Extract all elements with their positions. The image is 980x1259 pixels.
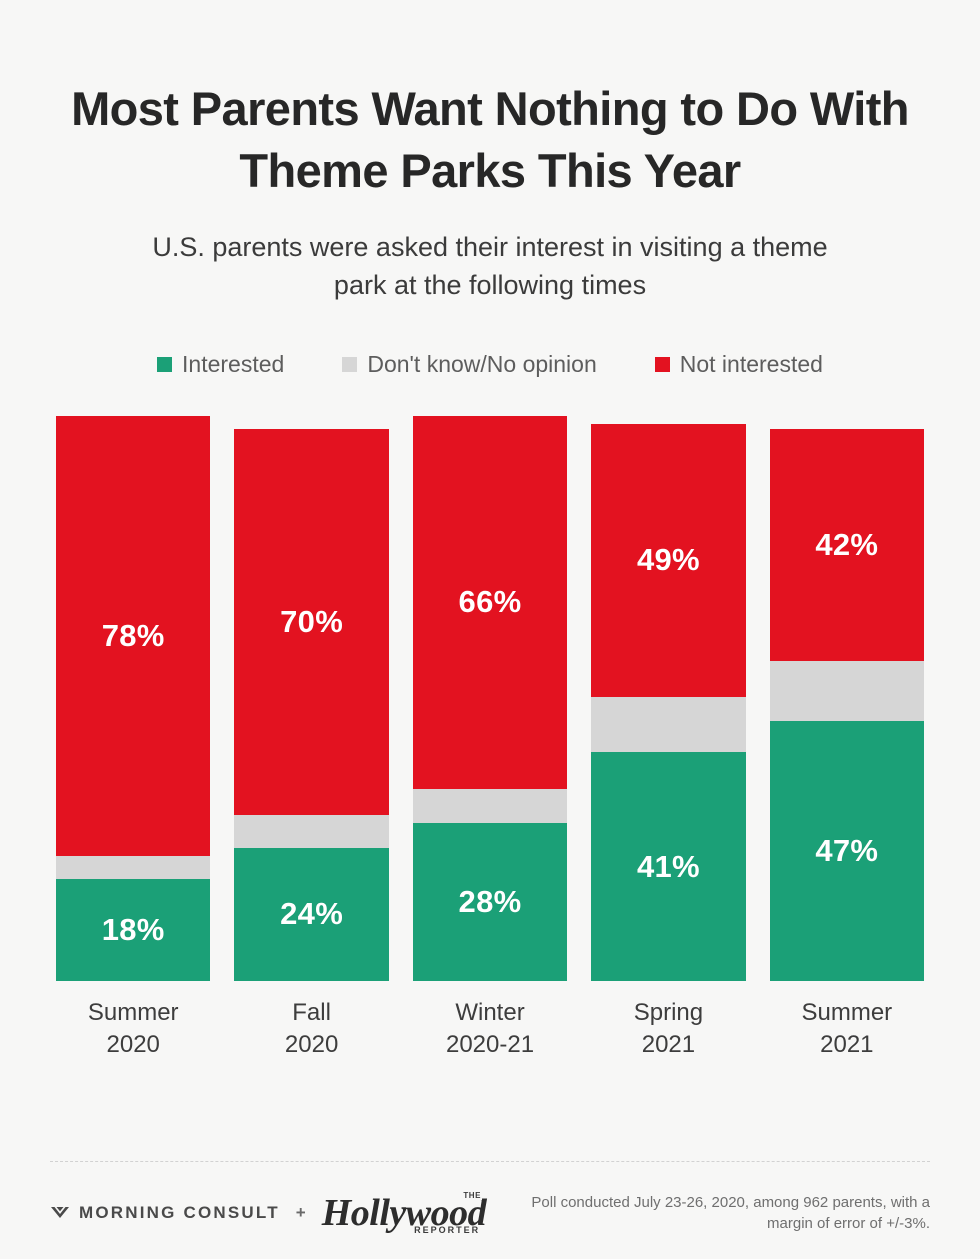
x-axis-tick-season: Summer bbox=[801, 999, 892, 1026]
bar-column[interactable]: 70%24% bbox=[234, 406, 388, 981]
x-axis-tick-season: Summer bbox=[88, 999, 179, 1026]
morning-consult-wordmark: MORNING CONSULT bbox=[79, 1203, 280, 1223]
bar-value-label: 42% bbox=[815, 527, 878, 563]
bar-segment-interested[interactable]: 28% bbox=[413, 823, 567, 981]
morning-consult-mark-icon bbox=[50, 1205, 70, 1221]
square-swatch-icon bbox=[655, 357, 670, 372]
bar-value-label: 70% bbox=[280, 604, 343, 640]
legend-label: Not interested bbox=[680, 351, 823, 378]
x-axis-tick-season: Fall bbox=[292, 999, 331, 1026]
bar-segment-don-t-know-no-opinion[interactable] bbox=[56, 856, 210, 879]
bar-segment-not-interested[interactable]: 42% bbox=[770, 429, 924, 661]
bar-value-label: 49% bbox=[637, 542, 700, 578]
bar-segment-not-interested[interactable]: 49% bbox=[591, 424, 745, 697]
bar-column[interactable]: 49%41% bbox=[591, 406, 745, 981]
x-axis-tick-season: Spring bbox=[634, 999, 703, 1026]
bar-column[interactable]: 66%28% bbox=[413, 406, 567, 981]
chart-plot-area: 78%18%70%24%66%28%49%41%42%47% bbox=[0, 406, 980, 981]
thr-the-text: THE bbox=[462, 1192, 482, 1200]
square-swatch-icon bbox=[342, 357, 357, 372]
bar-value-label: 24% bbox=[280, 896, 343, 932]
bar-value-label: 41% bbox=[637, 849, 700, 885]
x-axis-tick: Spring2021 bbox=[591, 997, 745, 1062]
bar-value-label: 18% bbox=[102, 912, 165, 948]
legend-item-interested[interactable]: Interested bbox=[157, 351, 284, 378]
thr-reporter-text: REPORTER bbox=[414, 1226, 480, 1235]
bar-group: 78%18%70%24%66%28%49%41%42%47% bbox=[56, 406, 924, 981]
morning-consult-logo: MORNING CONSULT bbox=[50, 1203, 280, 1223]
legend-label: Interested bbox=[182, 351, 284, 378]
bar-segment-interested[interactable]: 24% bbox=[234, 848, 388, 980]
x-axis-tick-year: 2020-21 bbox=[413, 1029, 567, 1062]
x-axis-labels: Summer2020Fall2020Winter2020-21Spring202… bbox=[0, 997, 980, 1062]
x-axis-tick-year: 2020 bbox=[234, 1029, 388, 1062]
bar-segment-not-interested[interactable]: 66% bbox=[413, 416, 567, 789]
chart-footer: MORNING CONSULT + THE Hollywood REPORTER… bbox=[0, 1161, 980, 1259]
hollywood-reporter-logo: THE Hollywood REPORTER bbox=[322, 1192, 486, 1235]
chart-legend: Interested Don't know/No opinion Not int… bbox=[0, 351, 980, 378]
page-title: Most Parents Want Nothing to Do With The… bbox=[70, 78, 910, 202]
bar-segment-don-t-know-no-opinion[interactable] bbox=[413, 789, 567, 823]
chart-header: Most Parents Want Nothing to Do With The… bbox=[0, 0, 980, 305]
footer-divider bbox=[50, 1161, 930, 1162]
legend-item-dont-know[interactable]: Don't know/No opinion bbox=[342, 351, 596, 378]
bar-segment-interested[interactable]: 18% bbox=[56, 879, 210, 981]
footer-row: MORNING CONSULT + THE Hollywood REPORTER… bbox=[50, 1192, 930, 1236]
source-note: Poll conducted July 23-26, 2020, among 9… bbox=[520, 1192, 930, 1236]
bar-segment-don-t-know-no-opinion[interactable] bbox=[234, 815, 388, 848]
x-axis-tick: Summer2021 bbox=[770, 997, 924, 1062]
chart-subtitle: U.S. parents were asked their interest i… bbox=[140, 228, 840, 305]
bar-value-label: 66% bbox=[459, 584, 522, 620]
bar-segment-not-interested[interactable]: 70% bbox=[234, 429, 388, 815]
bar-value-label: 28% bbox=[459, 884, 522, 920]
x-axis-tick-year: 2021 bbox=[591, 1029, 745, 1062]
x-axis-tick: Fall2020 bbox=[234, 997, 388, 1062]
x-axis-tick: Winter2020-21 bbox=[413, 997, 567, 1062]
bar-segment-not-interested[interactable]: 78% bbox=[56, 416, 210, 857]
x-axis-tick: Summer2020 bbox=[56, 997, 210, 1062]
legend-label: Don't know/No opinion bbox=[367, 351, 596, 378]
bar-segment-don-t-know-no-opinion[interactable] bbox=[770, 661, 924, 722]
brand-logos: MORNING CONSULT + THE Hollywood REPORTER bbox=[50, 1192, 486, 1235]
plus-separator: + bbox=[296, 1203, 306, 1223]
legend-item-not-interested[interactable]: Not interested bbox=[655, 351, 823, 378]
bar-column[interactable]: 42%47% bbox=[770, 406, 924, 981]
bar-column[interactable]: 78%18% bbox=[56, 406, 210, 981]
x-axis-tick-year: 2021 bbox=[770, 1029, 924, 1062]
x-axis-tick-season: Winter bbox=[455, 999, 524, 1026]
bar-segment-interested[interactable]: 47% bbox=[770, 721, 924, 980]
x-axis-tick-year: 2020 bbox=[56, 1029, 210, 1062]
bar-segment-don-t-know-no-opinion[interactable] bbox=[591, 697, 745, 753]
square-swatch-icon bbox=[157, 357, 172, 372]
bar-segment-interested[interactable]: 41% bbox=[591, 752, 745, 980]
bar-value-label: 47% bbox=[815, 833, 878, 869]
chart-page: Most Parents Want Nothing to Do With The… bbox=[0, 0, 980, 1259]
bar-value-label: 78% bbox=[102, 618, 165, 654]
